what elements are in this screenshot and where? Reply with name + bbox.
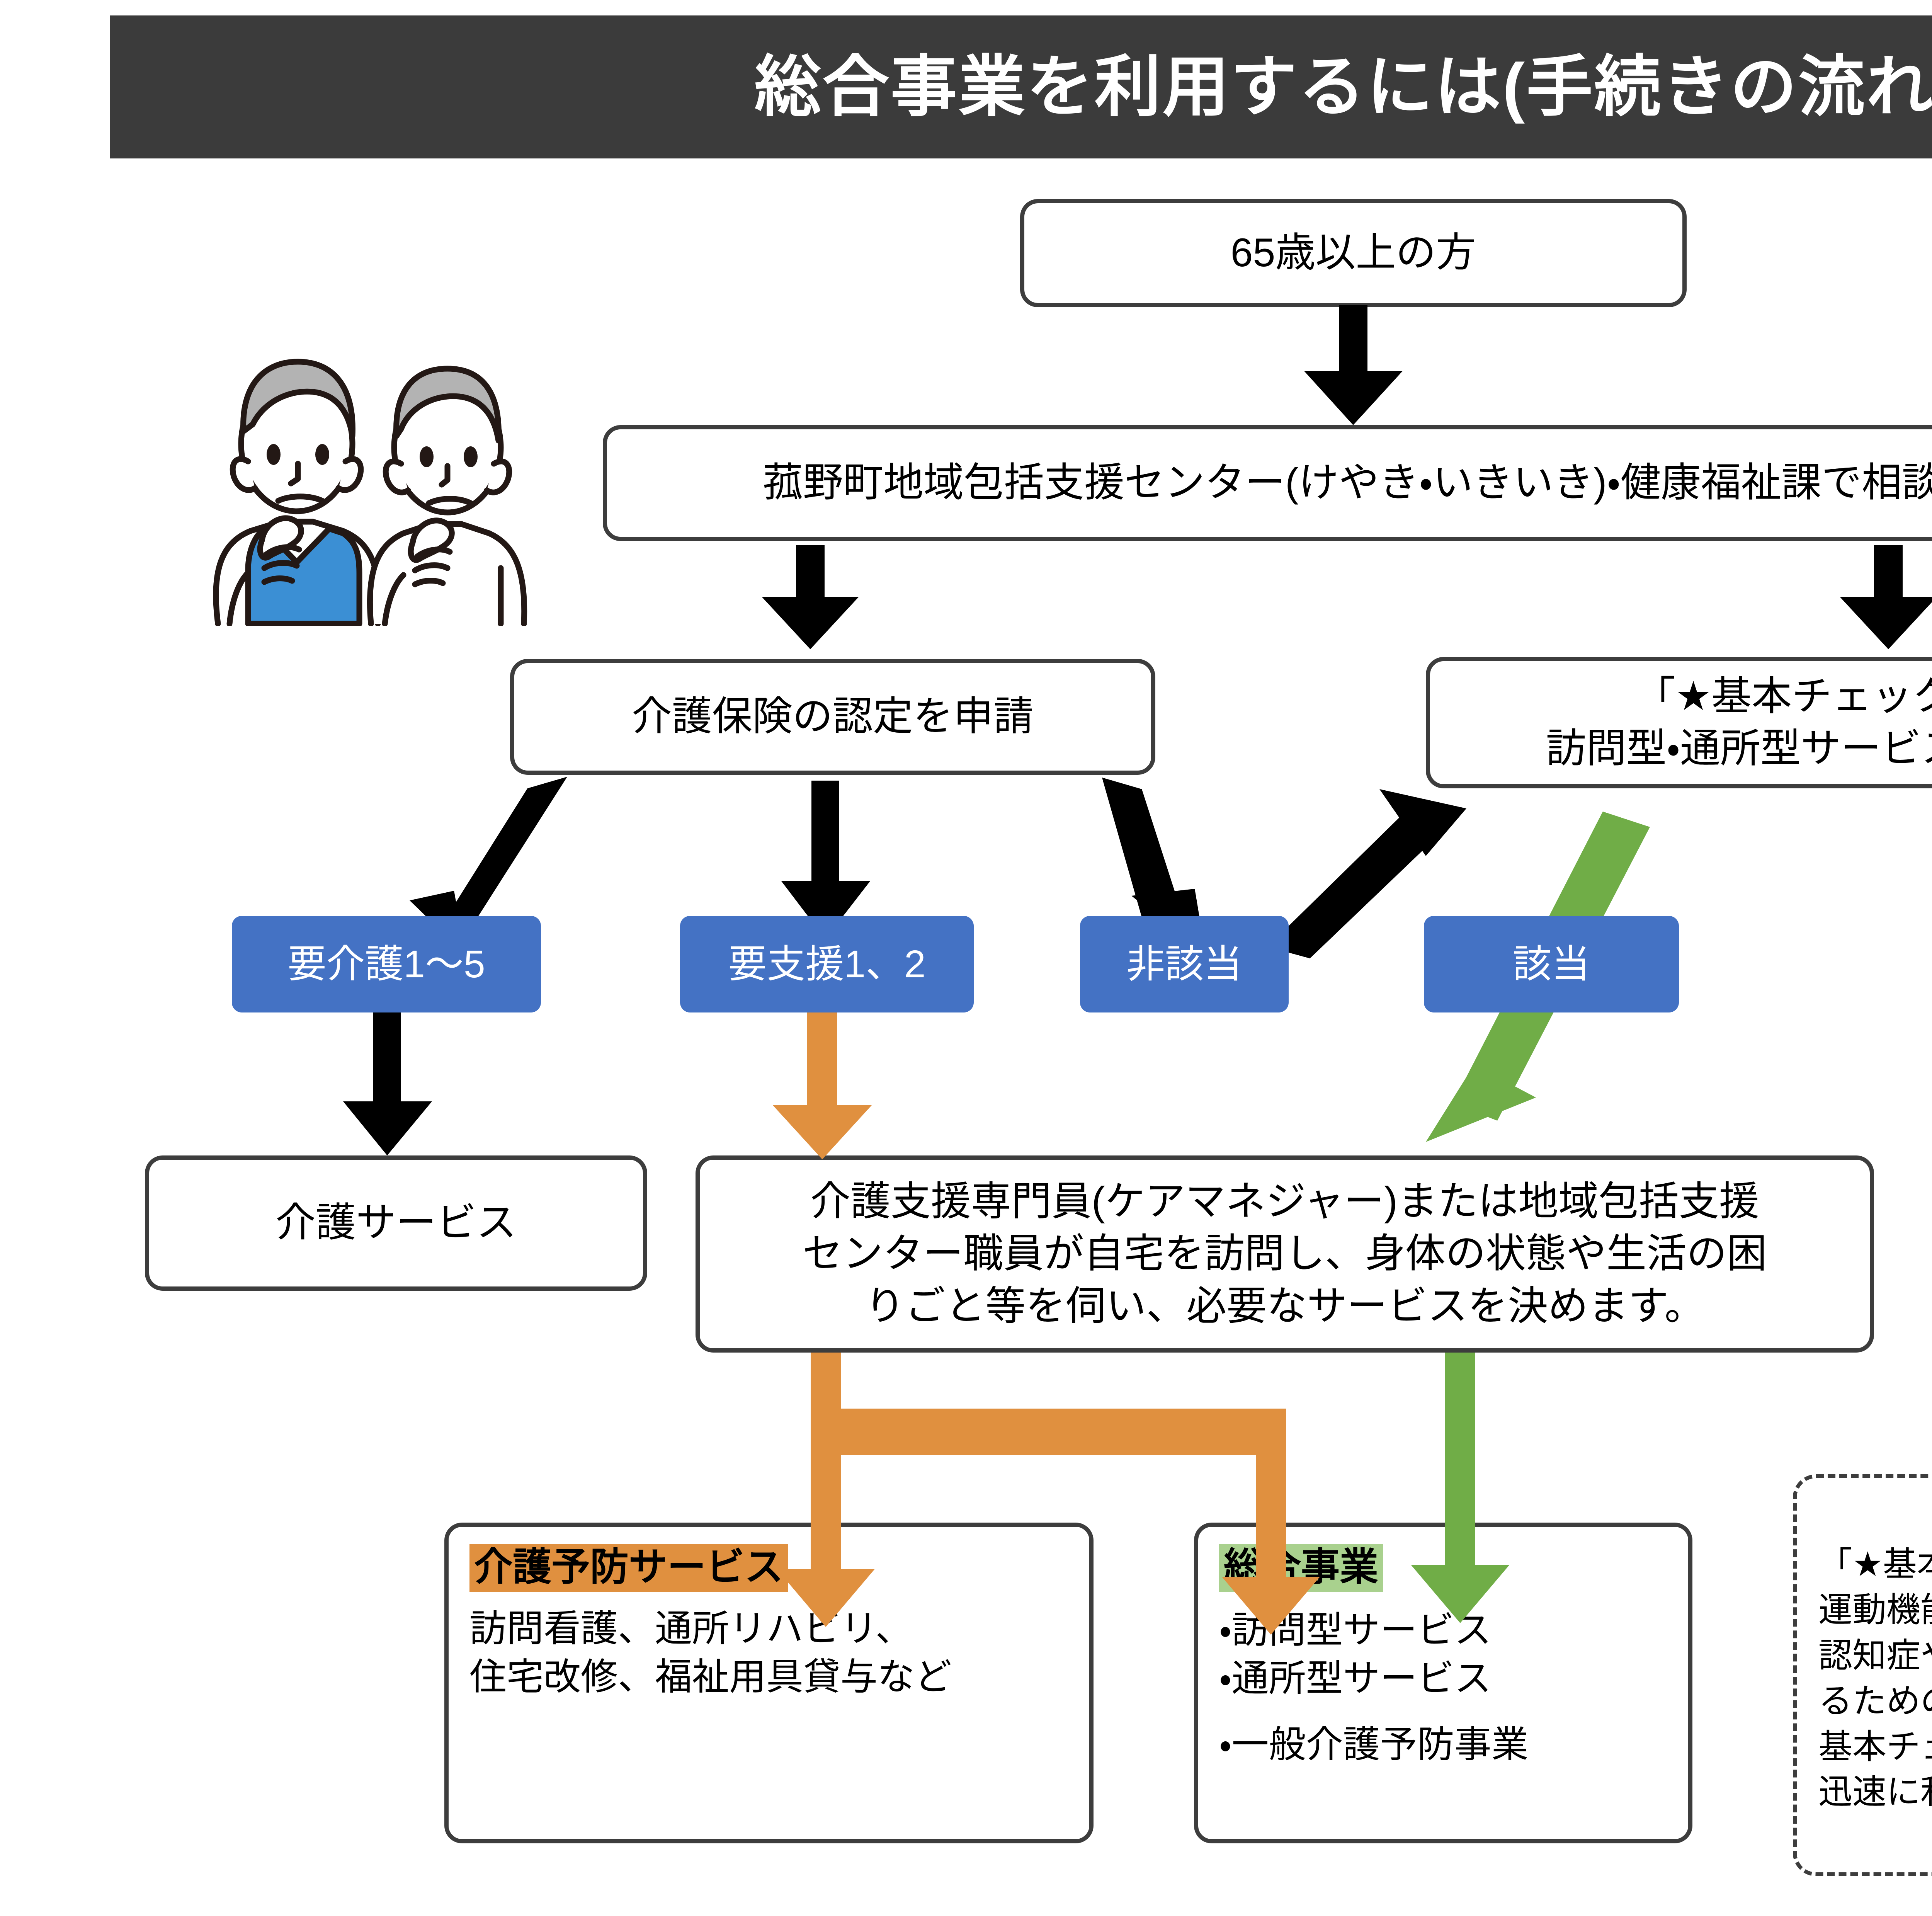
arrow-care-level-to-care-service	[343, 1012, 432, 1155]
node-checklist-judgement-label: 「★基本チェックリスト」で 訪問型・通所型サービスの必要性を判断	[1546, 670, 1932, 775]
note-checklist-text: 「★基本チェックリスト」とは… 運動機能や栄養状態を確認したり、 認知症やうつ等…	[1818, 1545, 1932, 1811]
list-item: ・一般介護予防事業	[1219, 1721, 1667, 1769]
badge-not-applicable-left[interactable]: 非該当	[1080, 916, 1289, 1012]
node-consultation-label: 菰野町地域包括支援センター(けやき・いきいき)・健康福祉課で相談	[763, 457, 1932, 509]
arrow-consult-to-checklist	[1840, 545, 1932, 649]
badge-applicable[interactable]: 該当	[1424, 916, 1679, 1012]
arrow-consult-to-apply	[762, 545, 859, 649]
node-apply-insurance-label: 介護保険の認定を申請	[632, 691, 1034, 743]
badge-care-level-1-5[interactable]: 要介護1～5	[232, 916, 541, 1012]
node-start-65-and-over[interactable]: 65歳以上の方	[1020, 199, 1687, 307]
list-item: ・通所型サービス	[1219, 1655, 1667, 1703]
node-apply-insurance[interactable]: 介護保険の認定を申請	[510, 659, 1155, 775]
badge-support-level-1-2[interactable]: 要支援1、2	[680, 916, 974, 1012]
badge-not-applicable-left-label: 非該当	[1126, 945, 1242, 984]
arrow-start-to-consult	[1304, 305, 1403, 425]
badge-care-level-1-5-label: 要介護1～5	[287, 945, 485, 984]
node-care-service-label: 介護サービス	[276, 1197, 517, 1249]
badge-applicable-label: 該当	[1513, 945, 1590, 984]
arrow-support-level-to-care-manager	[773, 1012, 872, 1159]
arrow-apply-to-support-level	[781, 781, 870, 939]
thinking-elderly-couple-illustration	[128, 325, 545, 626]
node-checklist-judgement[interactable]: 「★基本チェックリスト」で 訪問型・通所型サービスの必要性を判断	[1426, 657, 1932, 788]
comprehensive-project-heading: 総合事業	[1219, 1544, 1383, 1592]
note-checklist-explanation: 「★基本チェックリスト」とは… 運動機能や栄養状態を確認したり、 認知症やうつ等…	[1793, 1474, 1932, 1876]
prevention-service-heading: 介護予防サービス	[469, 1544, 788, 1592]
node-care-service[interactable]: 介護サービス	[145, 1155, 647, 1291]
badge-support-level-1-2-label: 要支援1、2	[728, 945, 925, 984]
node-care-manager-visit[interactable]: 介護支援専門員(ケアマネジャー)または地域包括支援 センター職員が自宅を訪問し、…	[696, 1155, 1874, 1353]
box-prevention-service[interactable]: 介護予防サービス 訪問看護、通所リハビリ、 住宅改修、福祉用具貸与など	[444, 1523, 1094, 1843]
node-start-label: 65歳以上の方	[1231, 227, 1476, 279]
page-title-bar: 総合事業を利用するには(手続きの流れ)	[110, 15, 1932, 158]
page-title: 総合事業を利用するには(手続きの流れ)	[755, 54, 1932, 120]
node-consultation-center[interactable]: 菰野町地域包括支援センター(けやき・いきいき)・健康福祉課で相談	[603, 425, 1932, 541]
box-comprehensive-project[interactable]: 総合事業 ・訪問型サービス ・通所型サービス ・一般介護予防事業	[1194, 1523, 1692, 1843]
prevention-service-body: 訪問看護、通所リハビリ、 住宅改修、福祉用具貸与など	[469, 1605, 1068, 1702]
list-item: ・訪問型サービス	[1219, 1606, 1667, 1655]
node-care-manager-visit-label: 介護支援専門員(ケアマネジャー)または地域包括支援 センター職員が自宅を訪問し、…	[803, 1176, 1767, 1332]
comprehensive-project-items: ・訪問型サービス ・通所型サービス ・一般介護予防事業	[1219, 1606, 1667, 1769]
